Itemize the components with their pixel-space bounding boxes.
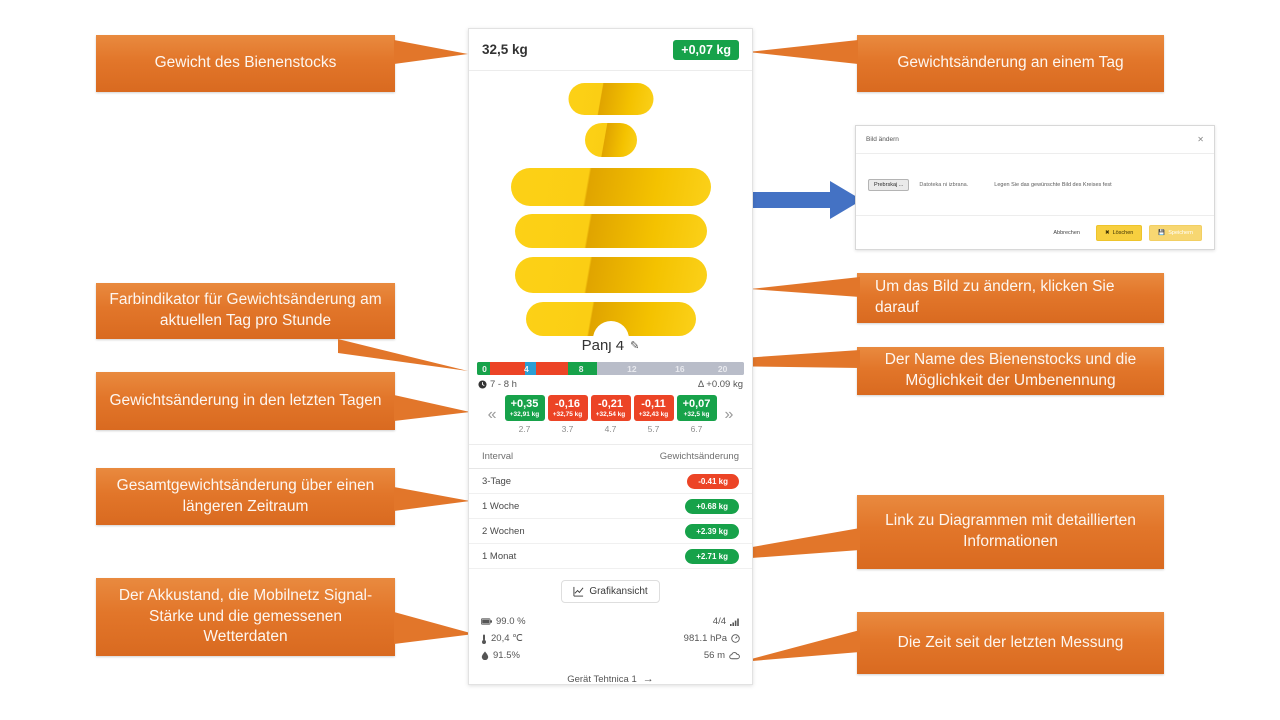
battery-icon (481, 618, 492, 625)
blue-right-arrow-icon (752, 181, 862, 219)
day-label: 5.7 (648, 424, 660, 434)
day-change-badge[interactable]: -0,21 +32,54 kg (591, 395, 631, 421)
day-change-badge[interactable]: -0,16 +32,75 kg (548, 395, 588, 421)
file-status-label: Datoteka ni izbrana. (919, 182, 968, 188)
callout-hive-name-text: Der Name des Bienenstocks und die Möglic… (869, 350, 1152, 392)
callout-chart-link-text: Link zu Diagrammen mit detaillierten Inf… (869, 511, 1152, 553)
callout-tail-hive-weight (394, 40, 474, 80)
humidity-drop-icon (481, 651, 489, 660)
interval-label: 1 Woche (482, 501, 519, 512)
day-label: 6.7 (691, 424, 703, 434)
callout-battery-weather-text: Der Akkustand, die Mobilnetz Signal-Stär… (108, 586, 383, 649)
sensor-row-humidity-altitude: 91.5% 56 m (481, 647, 740, 664)
hour-meta-row: 7 - 8 h Δ +0.09 kg (478, 379, 743, 390)
day-label: 2.7 (519, 424, 531, 434)
time-range-group: 7 - 8 h (478, 379, 517, 390)
day-change-badge[interactable]: -0,11 +32,43 kg (634, 395, 674, 421)
hive-bar-5 (515, 257, 707, 293)
hourly-color-indicator[interactable]: 0 4 8 12 16 20 (477, 362, 744, 375)
save-button[interactable]: 💾 Speichern (1149, 225, 1202, 241)
sensor-row-battery-signal: 99.0 % 4/4 (481, 613, 740, 630)
interval-table: Interval Gewichtsänderung 3-Tage -0.41 k… (469, 444, 752, 569)
callout-tail-total-change (394, 487, 474, 527)
signal-bars-icon (730, 618, 740, 626)
callout-last-measure: Die Zeit seit der letzten Messung (857, 612, 1164, 674)
table-row[interactable]: 3-Tage -0.41 kg (469, 469, 752, 494)
hive-detail-panel: 32,5 kg +0,07 kg Panj 4 ✎ 0 4 8 12 16 20 (468, 28, 753, 685)
day-column[interactable]: +0,35 +32,91 kg 2.7 (505, 395, 545, 434)
delete-button-label: Löschen (1113, 230, 1134, 236)
line-chart-icon (573, 586, 584, 597)
day-change-value: -0,11 (634, 398, 674, 411)
day-label: 3.7 (562, 424, 574, 434)
callout-hive-name: Der Name des Bienenstocks und die Möglic… (857, 347, 1164, 395)
battery-group: 99.0 % (481, 616, 526, 627)
delta-label: Δ +0.09 kg (698, 379, 743, 390)
table-row[interactable]: 1 Monat +2.71 kg (469, 544, 752, 569)
table-row[interactable]: 2 Wochen +2.39 kg (469, 519, 752, 544)
cancel-button[interactable]: Abbrechen (1044, 225, 1089, 241)
interval-label: 1 Monat (482, 551, 516, 562)
temperature-group: 20,4 ℃ (481, 633, 523, 644)
pressure-group: 981.1 hPa (684, 633, 740, 644)
callout-tail-change-image (750, 277, 860, 317)
callout-tail-battery-weather (394, 612, 479, 657)
day-change-value: -0,16 (548, 398, 588, 411)
hive-bar-2 (585, 123, 637, 157)
chevron-left-double-icon[interactable]: « (483, 406, 502, 424)
dialog-body: Prebrskaj ... Datoteka ni izbrana. Legen… (856, 154, 1214, 216)
day-total-value: +32,54 kg (591, 411, 631, 419)
callout-tail-recent-days (394, 395, 474, 435)
graph-button-label: Grafikansicht (589, 586, 647, 597)
sensor-row-temp-pressure: 20,4 ℃ 981.1 hPa (481, 630, 740, 647)
callout-tail-day-change (748, 40, 858, 80)
callout-change-image: Um das Bild zu ändern, klicken Sie darau… (857, 273, 1164, 323)
dialog-hint-text: Legen Sie das gewünschte Bild des Kreise… (994, 182, 1111, 188)
temperature-value: 20,4 ℃ (491, 633, 523, 644)
hour-segment (477, 362, 490, 375)
signal-value: 4/4 (713, 616, 726, 627)
hour-segment (568, 362, 597, 375)
day-column[interactable]: -0,11 +32,43 kg 5.7 (634, 395, 674, 434)
floppy-save-icon: 💾 (1158, 230, 1165, 236)
table-row[interactable]: 1 Woche +0.68 kg (469, 494, 752, 519)
signal-group: 4/4 (713, 616, 740, 627)
hive-bar-3 (511, 168, 711, 206)
day-total-value: +32,75 kg (548, 411, 588, 419)
panel-topbar: 32,5 kg +0,07 kg (469, 29, 752, 71)
time-range-label: 7 - 8 h (490, 379, 517, 390)
save-button-label: Speichern (1168, 230, 1193, 236)
col-header-interval: Interval (482, 451, 513, 462)
interval-change-pill: -0.41 kg (687, 474, 739, 489)
interval-change-pill: +0.68 kg (685, 499, 739, 514)
change-image-dialog: Bild ändern ✕ Prebrskaj ... Datoteka ni … (855, 125, 1215, 250)
day-total-value: +32,91 kg (505, 411, 545, 419)
file-browse-button[interactable]: Prebrskaj ... (868, 179, 909, 191)
day-column[interactable]: -0,21 +32,54 kg 4.7 (591, 395, 631, 434)
x-icon: ✖ (1105, 230, 1110, 236)
day-change-badge[interactable]: +0,07 +32,5 kg (677, 395, 717, 421)
callout-tail-last-measure (740, 630, 860, 670)
callout-total-change: Gesamtgewichtsänderung über einen länger… (96, 468, 395, 525)
gauge-icon (731, 634, 740, 643)
interval-label: 2 Wochen (482, 526, 525, 537)
callout-hive-weight: Gewicht des Bienenstocks (96, 35, 395, 92)
sensor-readouts: 99.0 % 4/4 20,4 ℃ 981 (469, 613, 752, 685)
cloud-icon (729, 652, 740, 660)
day-column[interactable]: +0,07 +32,5 kg 6.7 (677, 395, 717, 434)
table-header-row: Interval Gewichtsänderung (469, 445, 752, 469)
callout-day-change: Gewichtsänderung an einem Tag (857, 35, 1164, 92)
dialog-footer: Abbrechen ✖ Löschen 💾 Speichern (856, 216, 1214, 249)
callout-total-change-text: Gesamtgewichtsänderung über einen länger… (108, 476, 383, 518)
humidity-value: 91.5% (493, 650, 520, 661)
hour-segment (597, 362, 744, 375)
humidity-group: 91.5% (481, 650, 520, 661)
callout-day-change-text: Gewichtsänderung an einem Tag (869, 53, 1152, 74)
close-icon[interactable]: ✕ (1197, 135, 1204, 144)
dialog-header: Bild ändern ✕ (856, 126, 1214, 154)
callout-chart-link: Link zu Diagrammen mit detaillierten Inf… (857, 495, 1164, 569)
day-change-strip: « +0,35 +32,91 kg 2.7 -0,16 +32,75 kg 3.… (475, 395, 746, 434)
device-label: Gerät Tehtnica 1 (567, 674, 637, 685)
day-change-badge: +0,07 kg (673, 40, 739, 60)
interval-label: 3-Tage (482, 476, 511, 487)
hive-bar-4 (515, 214, 707, 248)
hour-segment (536, 362, 568, 375)
hour-segment (490, 362, 525, 375)
battery-value: 99.0 % (496, 616, 526, 627)
callout-recent-days: Gewichtsänderung in den letzten Tagen (96, 372, 395, 430)
device-link-row[interactable]: Gerät Tehtnica 1 → (481, 673, 740, 685)
interval-change-pill: +2.71 kg (685, 549, 739, 564)
hour-segment (525, 362, 536, 375)
callout-color-indicator: Farbindikator für Gewichtsänderung am ak… (96, 283, 395, 339)
callout-change-image-text: Um das Bild zu ändern, klicken Sie darau… (875, 277, 1152, 319)
clock-icon (478, 380, 487, 389)
day-change-value: +0,07 (677, 398, 717, 411)
day-total-value: +32,5 kg (677, 411, 717, 419)
day-change-value: +0,35 (505, 398, 545, 411)
pressure-value: 981.1 hPa (684, 633, 727, 644)
callout-color-indicator-text: Farbindikator für Gewichtsänderung am ak… (108, 290, 383, 332)
callout-recent-days-text: Gewichtsänderung in den letzten Tagen (108, 391, 383, 412)
interval-change-pill: +2.39 kg (685, 524, 739, 539)
day-label: 4.7 (605, 424, 617, 434)
altitude-value: 56 m (704, 650, 725, 661)
day-change-badge[interactable]: +0,35 +32,91 kg (505, 395, 545, 421)
day-column[interactable]: -0,16 +32,75 kg 3.7 (548, 395, 588, 434)
callout-hive-weight-text: Gewicht des Bienenstocks (108, 53, 383, 74)
chevron-right-double-icon[interactable]: » (720, 406, 739, 424)
total-weight-value: 32,5 kg (482, 42, 528, 57)
graph-view-button[interactable]: Grafikansicht (561, 580, 659, 603)
hive-bar-1 (568, 83, 653, 115)
altitude-group: 56 m (704, 650, 740, 661)
day-change-value: -0,21 (591, 398, 631, 411)
day-total-value: +32,43 kg (634, 411, 674, 419)
callout-battery-weather: Der Akkustand, die Mobilnetz Signal-Stär… (96, 578, 395, 656)
hive-illustration[interactable] (469, 71, 752, 341)
graph-button-wrap: Grafikansicht (469, 580, 752, 603)
delete-button[interactable]: ✖ Löschen (1096, 225, 1142, 241)
col-header-change: Gewichtsänderung (660, 451, 739, 462)
arrow-right-icon[interactable]: → (643, 673, 654, 685)
dialog-title: Bild ändern (866, 136, 899, 143)
thermometer-icon (481, 634, 487, 644)
callout-last-measure-text: Die Zeit seit der letzten Messung (869, 633, 1152, 654)
